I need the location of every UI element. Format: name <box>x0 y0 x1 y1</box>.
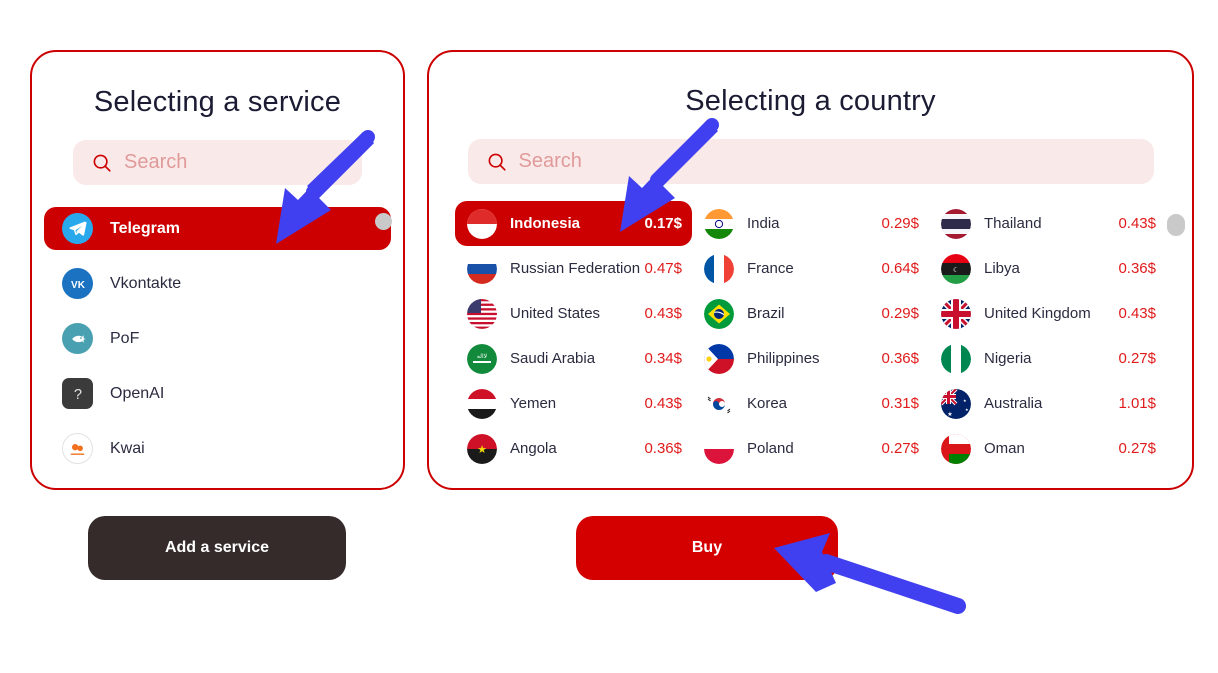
country-price: 0.36$ <box>1118 260 1156 277</box>
svg-text:☾: ☾ <box>953 267 959 274</box>
country-name: Poland <box>747 440 794 457</box>
search-icon <box>91 152 113 174</box>
service-panel-title: Selecting a service <box>32 86 403 119</box>
flag-korea-icon <box>704 389 734 419</box>
flag-philippines-icon <box>704 344 734 374</box>
svg-text:★: ★ <box>477 444 487 456</box>
country-row-australia[interactable]: ★★★ Australia 1.01$ <box>929 381 1166 426</box>
country-row-united-kingdom[interactable]: United Kingdom 0.43$ <box>929 291 1166 336</box>
flag-russia-icon <box>467 254 497 284</box>
country-price: 0.43$ <box>1118 215 1156 232</box>
svg-text:★: ★ <box>965 407 969 412</box>
flag-poland-icon <box>704 434 734 464</box>
country-price: 0.17$ <box>644 215 682 232</box>
svg-text:★: ★ <box>963 398 967 403</box>
country-search-box[interactable] <box>468 139 1154 184</box>
country-price: 0.27$ <box>1118 440 1156 457</box>
country-panel-title: Selecting a country <box>429 85 1192 118</box>
country-row-france[interactable]: France 0.64$ <box>692 246 929 291</box>
svg-text:?: ? <box>73 387 81 403</box>
flag-usa-icon <box>467 299 497 329</box>
country-name: Yemen <box>510 395 556 412</box>
country-row-nigeria[interactable]: Nigeria 0.27$ <box>929 336 1166 381</box>
flag-indonesia-icon <box>467 209 497 239</box>
service-row-pof[interactable]: PoF <box>44 317 391 360</box>
telegram-icon <box>62 213 93 244</box>
vkontakte-icon: VK <box>62 268 93 299</box>
country-name: Korea <box>747 395 787 412</box>
country-name: Brazil <box>747 305 785 322</box>
country-column-3: Thailand 0.43$ ☾ Libya 0.36$ United King… <box>929 201 1166 471</box>
country-row-libya[interactable]: ☾ Libya 0.36$ <box>929 246 1166 291</box>
country-name: Philippines <box>747 350 820 367</box>
country-row-yemen[interactable]: Yemen 0.43$ <box>455 381 692 426</box>
service-label: Kwai <box>110 440 145 458</box>
country-price: 0.43$ <box>1118 305 1156 322</box>
country-price: 0.27$ <box>881 440 919 457</box>
country-row-saudi-arabia[interactable]: ﻻﺍﻟﻪ Saudi Arabia 0.34$ <box>455 336 692 381</box>
flag-libya-icon: ☾ <box>941 254 971 284</box>
country-row-united-states[interactable]: United States 0.43$ <box>455 291 692 336</box>
flag-nigeria-icon <box>941 344 971 374</box>
flag-india-icon <box>704 209 734 239</box>
country-price: 0.43$ <box>644 395 682 412</box>
country-name: United Kingdom <box>984 305 1091 322</box>
country-price: 0.34$ <box>644 350 682 367</box>
country-search-input[interactable] <box>519 150 1154 173</box>
country-name: Nigeria <box>984 350 1032 367</box>
service-search-box[interactable] <box>73 140 362 185</box>
svg-text:ﻻﺍﻟﻪ: ﻻﺍﻟﻪ <box>477 353 487 360</box>
country-name: India <box>747 215 780 232</box>
country-column-1: Indonesia 0.17$ Russian Federation 0.47$… <box>455 201 692 471</box>
country-name: Angola <box>510 440 557 457</box>
pof-icon <box>62 323 93 354</box>
service-label: PoF <box>110 330 139 348</box>
service-label: Telegram <box>110 220 180 238</box>
country-row-russian-federation[interactable]: Russian Federation 0.47$ <box>455 246 692 291</box>
country-row-oman[interactable]: Oman 0.27$ <box>929 426 1166 471</box>
country-name: France <box>747 260 794 277</box>
service-label: Vkontakte <box>110 275 181 293</box>
country-row-korea[interactable]: Korea 0.31$ <box>692 381 929 426</box>
kwai-icon <box>62 433 93 464</box>
flag-angola-icon: ★ <box>467 434 497 464</box>
country-row-angola[interactable]: ★ Angola 0.36$ <box>455 426 692 471</box>
country-grid: Indonesia 0.17$ Russian Federation 0.47$… <box>429 201 1192 471</box>
country-row-brazil[interactable]: Brazil 0.29$ <box>692 291 929 336</box>
country-row-indonesia[interactable]: Indonesia 0.17$ <box>455 201 692 246</box>
country-price: 0.31$ <box>881 395 919 412</box>
country-name: Thailand <box>984 215 1042 232</box>
country-price: 1.01$ <box>1118 395 1156 412</box>
flag-yemen-icon <box>467 389 497 419</box>
country-panel: Selecting a country Indonesia 0.17$ <box>427 50 1194 490</box>
country-name: Oman <box>984 440 1025 457</box>
country-name: Indonesia <box>510 215 580 232</box>
service-list: Telegram VK Vkontakte PoF ? OpenAI <box>32 207 403 470</box>
page-root: Selecting a service Telegram VK Vkont <box>0 0 1218 673</box>
service-panel: Selecting a service Telegram VK Vkont <box>30 50 405 490</box>
flag-brazil-icon <box>704 299 734 329</box>
country-price: 0.27$ <box>1118 350 1156 367</box>
country-name: United States <box>510 305 600 322</box>
add-service-button[interactable]: Add a service <box>88 516 346 580</box>
country-price: 0.64$ <box>881 260 919 277</box>
country-price: 0.36$ <box>644 440 682 457</box>
country-column-2: India 0.29$ France 0.64$ Brazil 0.29$ <box>692 201 929 471</box>
openai-icon: ? <box>62 378 93 409</box>
service-row-vkontakte[interactable]: VK Vkontakte <box>44 262 391 305</box>
country-price: 0.36$ <box>881 350 919 367</box>
country-price: 0.43$ <box>644 305 682 322</box>
flag-uk-icon <box>941 299 971 329</box>
flag-saudi-icon: ﻻﺍﻟﻪ <box>467 344 497 374</box>
country-grid-scrollbar-thumb[interactable] <box>1167 214 1185 236</box>
flag-france-icon <box>704 254 734 284</box>
buy-button[interactable]: Buy <box>576 516 838 580</box>
service-row-openai[interactable]: ? OpenAI <box>44 372 391 415</box>
country-name: Australia <box>984 395 1042 412</box>
country-name: Saudi Arabia <box>510 350 595 367</box>
country-row-india[interactable]: India 0.29$ <box>692 201 929 246</box>
country-name: Russian Federation <box>510 260 640 277</box>
flag-australia-icon: ★★★ <box>941 389 971 419</box>
country-price: 0.29$ <box>881 215 919 232</box>
search-icon <box>486 151 508 173</box>
service-search-input[interactable] <box>124 151 362 174</box>
service-row-telegram[interactable]: Telegram <box>44 207 391 250</box>
country-name: Libya <box>984 260 1020 277</box>
flag-thailand-icon <box>941 209 971 239</box>
country-row-philippines[interactable]: Philippines 0.36$ <box>692 336 929 381</box>
service-row-kwai[interactable]: Kwai <box>44 427 391 470</box>
svg-text:VK: VK <box>71 279 86 290</box>
country-row-thailand[interactable]: Thailand 0.43$ <box>929 201 1166 246</box>
service-label: OpenAI <box>110 385 164 403</box>
country-price: 0.47$ <box>644 260 682 277</box>
svg-text:★: ★ <box>947 411 952 418</box>
country-price: 0.29$ <box>881 305 919 322</box>
flag-oman-icon <box>941 434 971 464</box>
service-list-scrollbar-thumb[interactable] <box>375 213 392 230</box>
country-row-poland[interactable]: Poland 0.27$ <box>692 426 929 471</box>
